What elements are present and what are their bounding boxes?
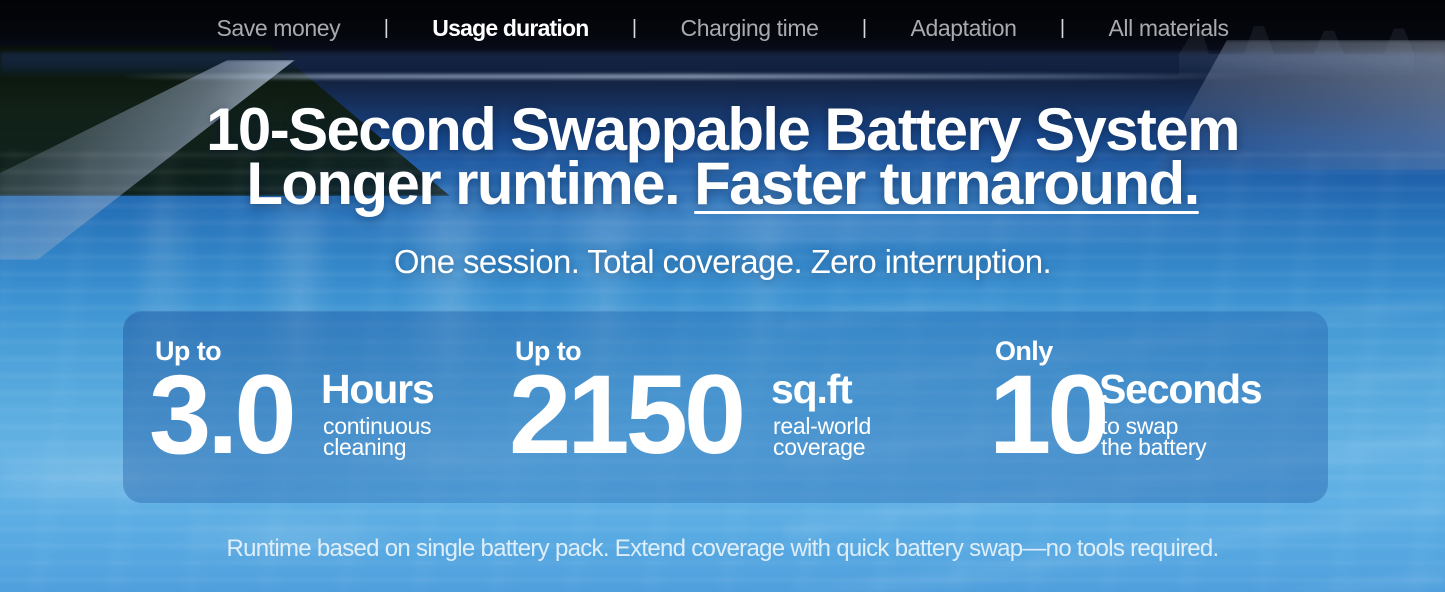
headline-underlined-phrase: Faster turnaround. xyxy=(694,158,1199,211)
stat-value: 3.0 xyxy=(149,359,293,471)
stat-description: real-world coverage xyxy=(773,416,871,458)
stat-description: continuous cleaning xyxy=(323,416,431,458)
nav-item-all-materials[interactable]: All materials xyxy=(1106,15,1230,42)
stat-unit: Hours xyxy=(321,369,433,410)
stat-unit: sq.ft xyxy=(771,369,852,410)
hero-banner: Save money | Usage duration | Charging t… xyxy=(0,0,1445,592)
stat-unit: Seconds xyxy=(1099,369,1262,410)
stat-card-runtime: Up to 3.0 Hours continuous cleaning xyxy=(123,311,515,503)
headline-line-2: Longer runtime. Faster turnaround. xyxy=(0,158,1445,211)
nav-separator: | xyxy=(342,17,430,40)
stat-card-swap-time: Only 10 Seconds to swap the battery xyxy=(967,311,1328,503)
footer-disclaimer: Runtime based on single battery pack. Ex… xyxy=(0,535,1445,563)
nav-separator: | xyxy=(821,17,909,40)
nav-item-usage-duration[interactable]: Usage duration xyxy=(430,15,590,42)
nav-separator: | xyxy=(1018,17,1106,40)
stat-card-coverage: Up to 2150 sq.ft real-world coverage xyxy=(515,311,967,503)
feature-nav: Save money | Usage duration | Charging t… xyxy=(0,0,1445,56)
nav-separator: | xyxy=(591,17,679,40)
headline-line-1: 10-Second Swappable Battery System xyxy=(0,104,1445,155)
stat-description: to swap the battery xyxy=(1101,416,1206,458)
nav-item-charging-time[interactable]: Charging time xyxy=(679,15,821,42)
stat-value: 2150 xyxy=(509,359,742,471)
nav-item-adaptation[interactable]: Adaptation xyxy=(909,15,1019,42)
hero-headline: 10-Second Swappable Battery System Longe… xyxy=(0,104,1445,211)
stat-value: 10 xyxy=(989,359,1106,471)
hero-subtitle: One session. Total coverage. Zero interr… xyxy=(0,243,1445,281)
headline-line-2-plain: Longer runtime. xyxy=(246,150,694,217)
nav-item-save-money[interactable]: Save money xyxy=(214,15,342,42)
stats-panel: Up to 3.0 Hours continuous cleaning Up t… xyxy=(123,311,1328,503)
